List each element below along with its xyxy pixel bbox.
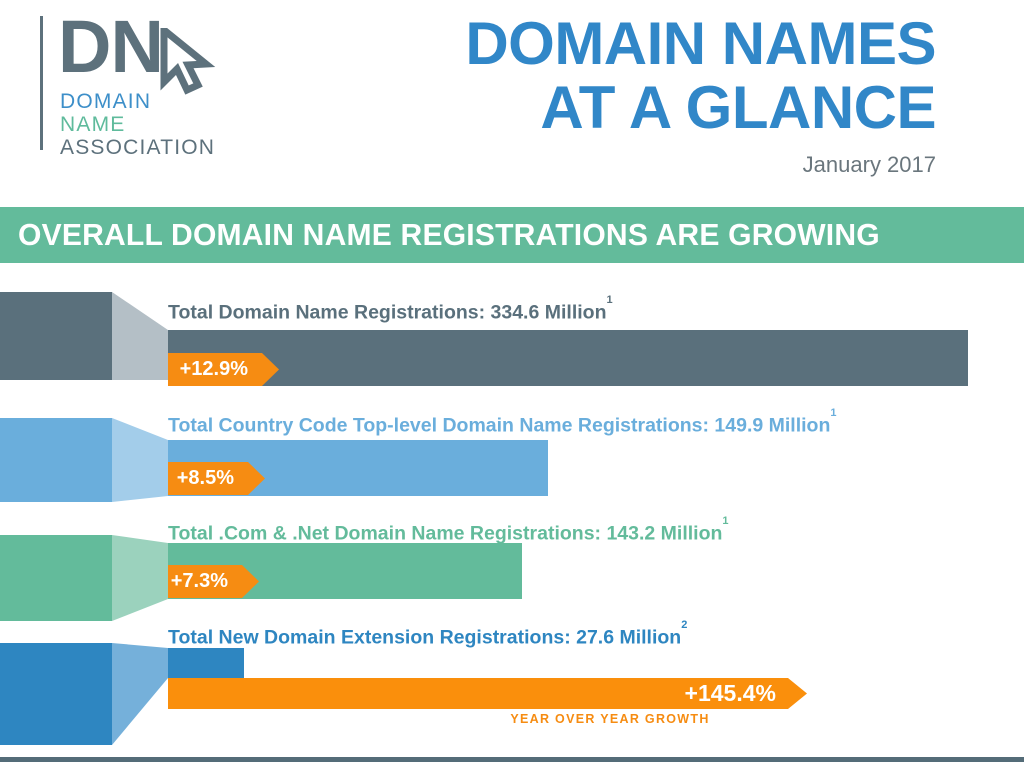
bar-label: Total Domain Name Registrations: 334.6 M… — [168, 297, 613, 324]
bar-end-block-bevel — [112, 292, 168, 380]
logo-line-domain: DOMAIN — [60, 90, 151, 113]
infographic-canvas: DN DOMAIN NAME ASSOCIATION DOMAIN NAMES … — [0, 0, 1024, 763]
bar-end-block-bevel — [112, 418, 168, 502]
bar-label-text: Total New Domain Extension Registrations… — [168, 627, 681, 649]
logo-monogram: DN — [58, 10, 163, 84]
section-banner-text: OVERALL DOMAIN NAME REGISTRATIONS ARE GR… — [18, 216, 880, 254]
title-block: DOMAIN NAMES AT A GLANCE January 2017 — [316, 14, 936, 178]
bar-label-footnote: 2 — [681, 619, 687, 631]
growth-bar-arrow-icon — [788, 678, 807, 709]
bar-end-block-bevel — [112, 535, 168, 621]
bar-end-block-face — [0, 535, 112, 621]
bar-label-footnote: 1 — [606, 294, 612, 306]
bar-label-text: Total Domain Name Registrations: 334.6 M… — [168, 302, 606, 324]
bar-end-block-face — [0, 643, 112, 745]
logo-line-association: ASSOCIATION — [60, 136, 215, 159]
bar-label-text: Total .Com & .Net Domain Name Registrati… — [168, 523, 722, 545]
growth-bar-value: +145.4% — [685, 680, 776, 707]
logo: DN DOMAIN NAME ASSOCIATION — [40, 12, 290, 152]
growth-bar-caption: YEAR OVER YEAR GROWTH — [430, 712, 790, 726]
growth-tag: +7.3% — [168, 565, 242, 598]
bar-label-footnote: 1 — [722, 515, 728, 527]
logo-line-name: NAME — [60, 113, 125, 136]
bar-end-block-face — [0, 292, 112, 380]
growth-tag-value: +8.5% — [177, 467, 234, 490]
header: DN DOMAIN NAME ASSOCIATION DOMAIN NAMES … — [0, 0, 1024, 205]
bar-label-text: Total Country Code Top-level Domain Name… — [168, 415, 830, 437]
bar-label: Total .Com & .Net Domain Name Registrati… — [168, 518, 729, 545]
cursor-arrow-icon — [158, 28, 220, 96]
page-title-line-1: DOMAIN NAMES — [316, 14, 936, 74]
page-subtitle-date: January 2017 — [316, 152, 936, 178]
bar-fill — [168, 330, 968, 386]
bar-end-block-face — [0, 418, 112, 502]
logo-vertical-rule — [40, 16, 43, 150]
growth-bar-highlight: +145.4% — [168, 678, 788, 709]
bar-label-footnote: 1 — [830, 407, 836, 419]
bar-fill — [168, 648, 244, 678]
bar-label: Total New Domain Extension Registrations… — [168, 622, 687, 649]
growth-tag: +8.5% — [168, 462, 248, 495]
growth-tag-value: +12.9% — [180, 358, 248, 381]
section-banner: OVERALL DOMAIN NAME REGISTRATIONS ARE GR… — [0, 207, 1024, 263]
growth-tag: +12.9% — [168, 353, 262, 386]
bar-label: Total Country Code Top-level Domain Name… — [168, 410, 837, 437]
page-title-line-2: AT A GLANCE — [316, 78, 936, 138]
footer-rule — [0, 757, 1024, 762]
bar-end-block-bevel — [112, 643, 168, 745]
growth-tag-value: +7.3% — [171, 570, 228, 593]
